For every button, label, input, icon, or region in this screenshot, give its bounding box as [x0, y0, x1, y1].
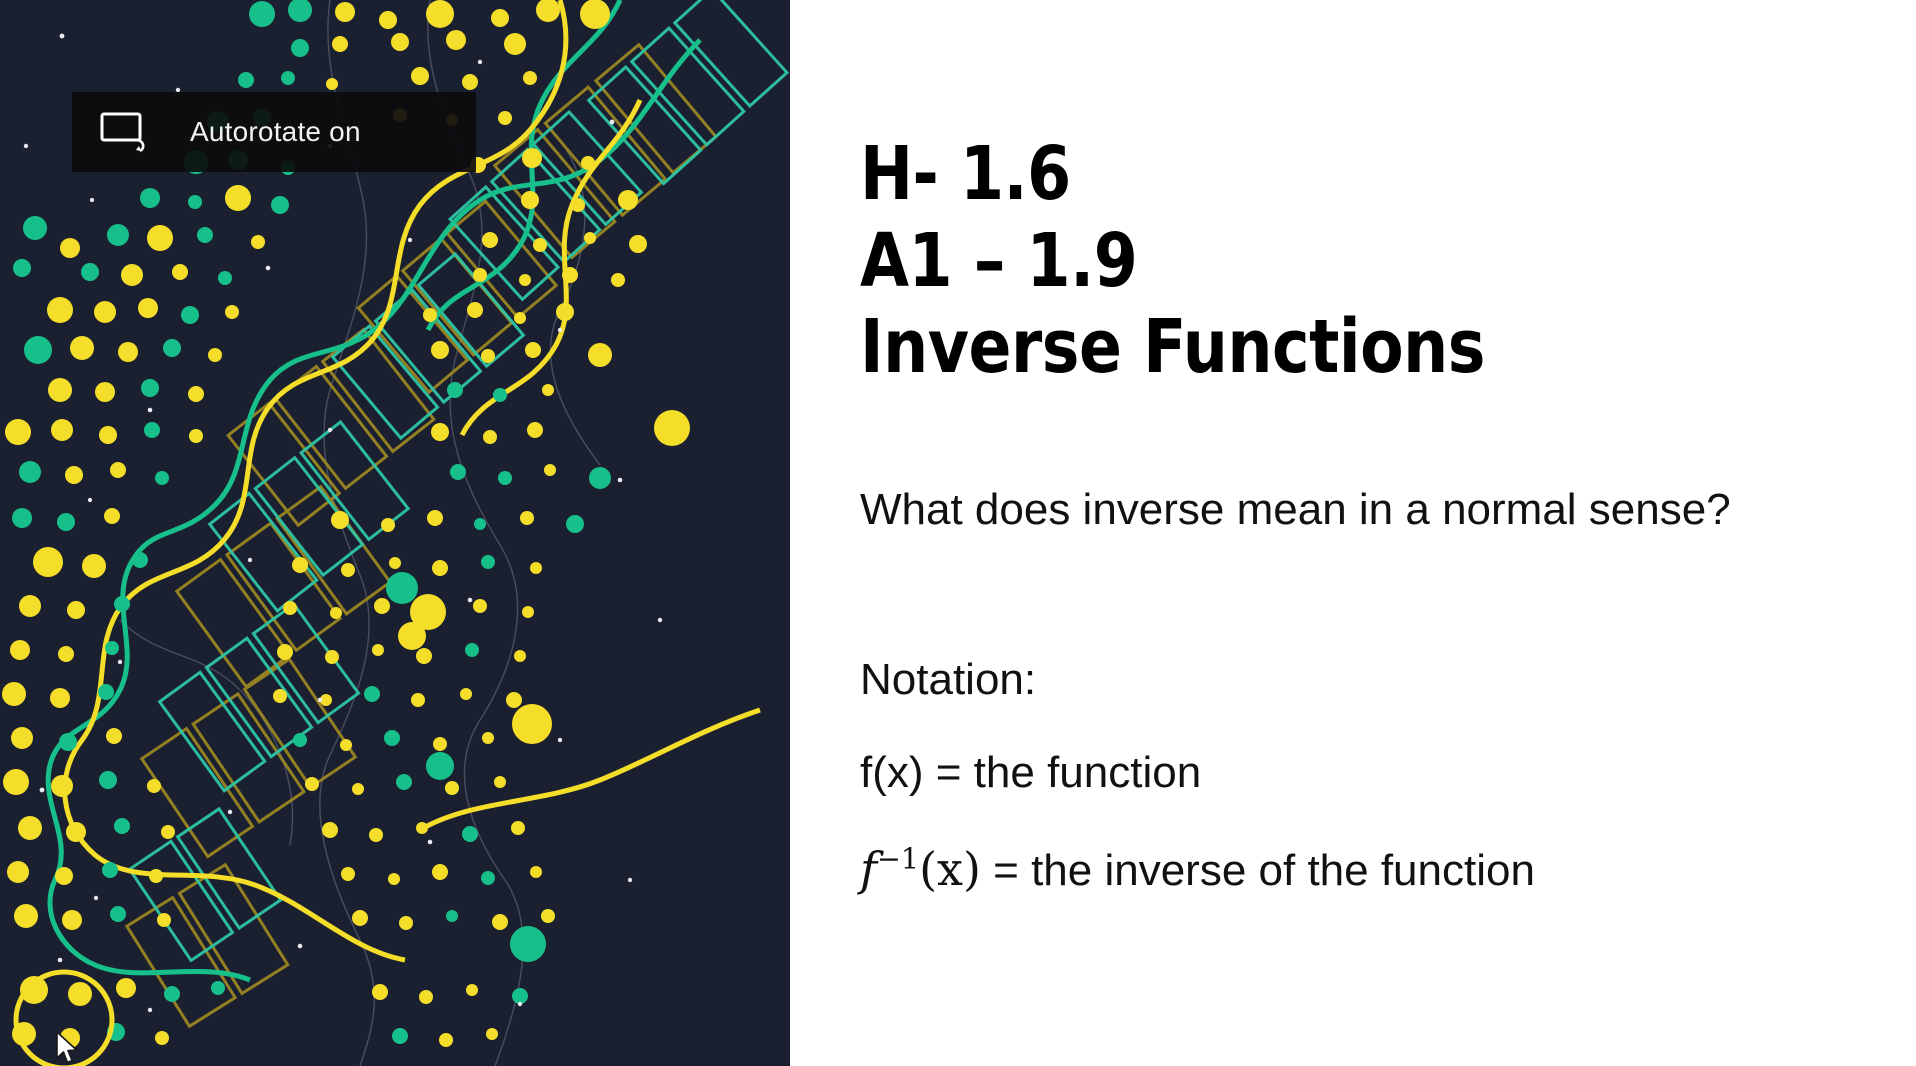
f-symbol: f [860, 842, 877, 896]
inverse-notation-line: f−1(x) = the inverse of the function [860, 840, 1760, 900]
toast-label: Autorotate on [190, 116, 361, 148]
subtitle-question: What does inverse mean in a normal sense… [860, 482, 1765, 538]
function-notation-line: f(x) = the function [860, 748, 1201, 798]
notation-heading: Notation: [860, 655, 1036, 705]
slide-content-panel: H- 1.6 A1 – 1.9 Inverse Functions What d… [790, 0, 1916, 1066]
title-line-1: H- 1.6 [860, 132, 1724, 218]
screen-rotate-icon [100, 110, 154, 154]
slide-title-block: H- 1.6 A1 – 1.9 Inverse Functions [860, 132, 1760, 392]
slide-screen: Autorotate on H- 1.6 A1 – 1.9 Inverse Fu… [0, 0, 1916, 1066]
title-line-3: Inverse Functions [860, 305, 1724, 391]
exponent-minus-one: −1 [877, 843, 919, 876]
autorotate-toast[interactable]: Autorotate on [72, 92, 476, 172]
argument-x: (x) [919, 842, 981, 896]
title-line-2: A1 – 1.9 [860, 219, 1724, 305]
inverse-definition-text: = the inverse of the function [981, 846, 1535, 895]
decorative-art-panel: Autorotate on [0, 0, 790, 1066]
inverse-function-symbol: f−1(x) [860, 842, 981, 896]
